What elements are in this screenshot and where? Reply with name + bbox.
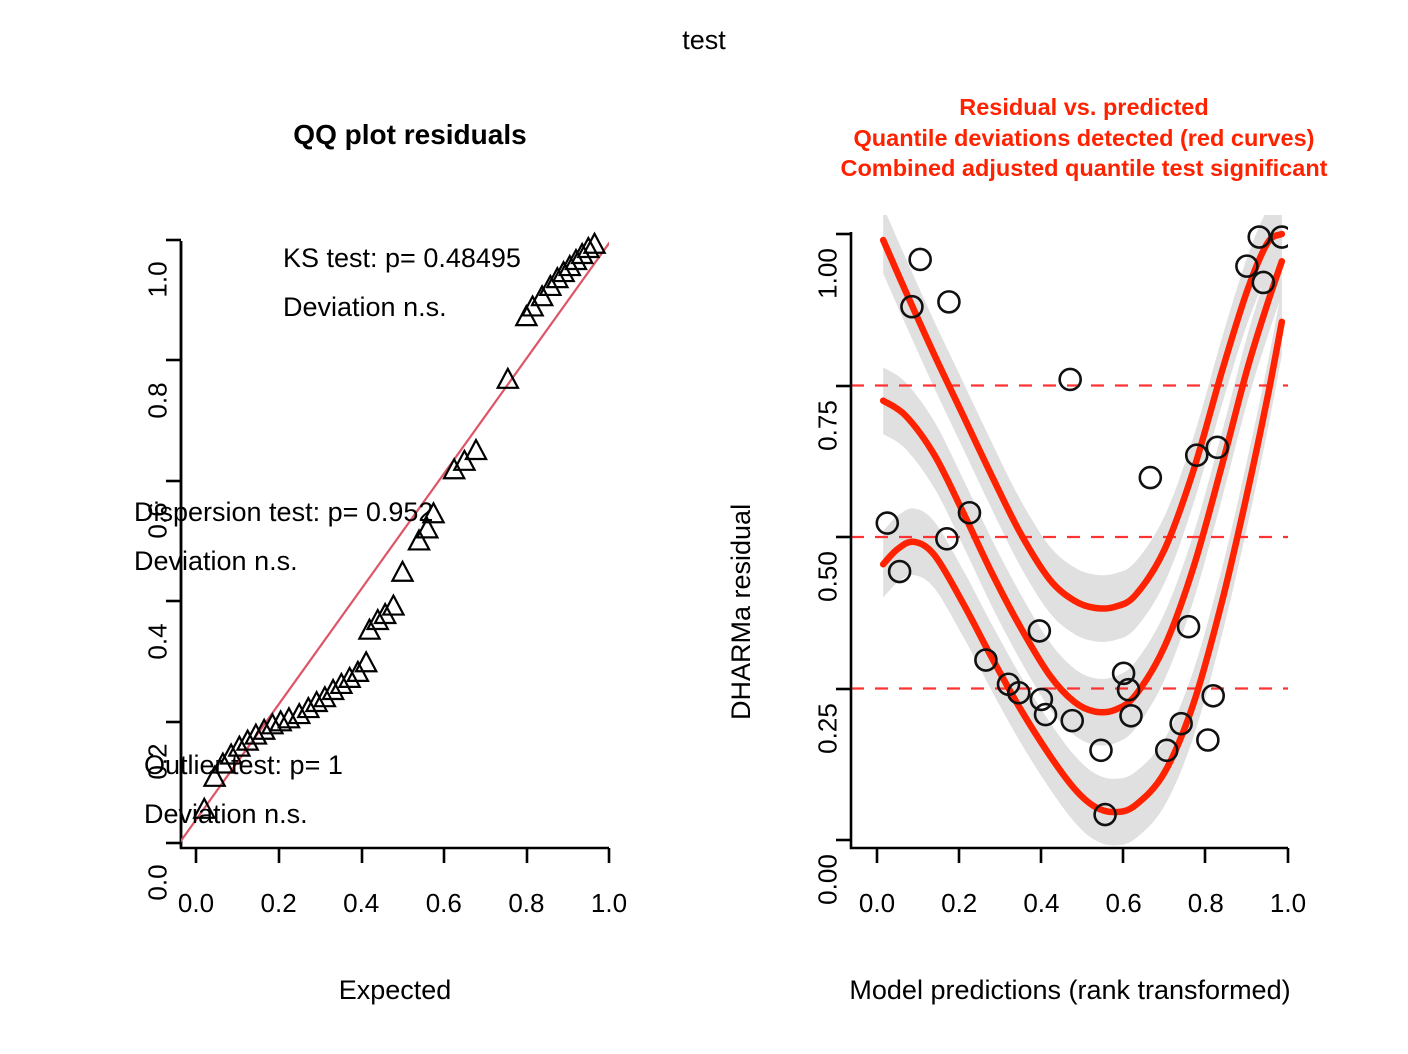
x-tick-label: 0.8 [1161,888,1251,919]
x-tick-label: 1.0 [1243,888,1333,919]
rvp-y-axis-title: DHARMa residual [726,504,757,720]
x-tick-label: 0.6 [1079,888,1169,919]
y-tick-label: 0.75 [813,385,844,465]
rvp-point [1060,369,1081,390]
rvp-confidence-bands [883,201,1282,846]
y-tick-label: 0.25 [813,688,844,768]
rvp-point [910,249,931,270]
rvp-point [938,291,959,312]
y-tick-label: 0.00 [813,840,844,920]
x-tick-label: 0.0 [832,888,922,919]
rvp-x-axis-title: Model predictions (rank transformed) [790,975,1350,1006]
rvp-point [1197,730,1218,751]
x-tick-label: 0.4 [996,888,1086,919]
rvp-point [1140,467,1161,488]
y-tick-label: 1.00 [813,234,844,314]
rvp-x-ticks [877,848,1288,863]
rvp-confidence-band [883,228,1282,746]
x-tick-label: 0.2 [914,888,1004,919]
y-tick-label: 0.50 [813,537,844,617]
